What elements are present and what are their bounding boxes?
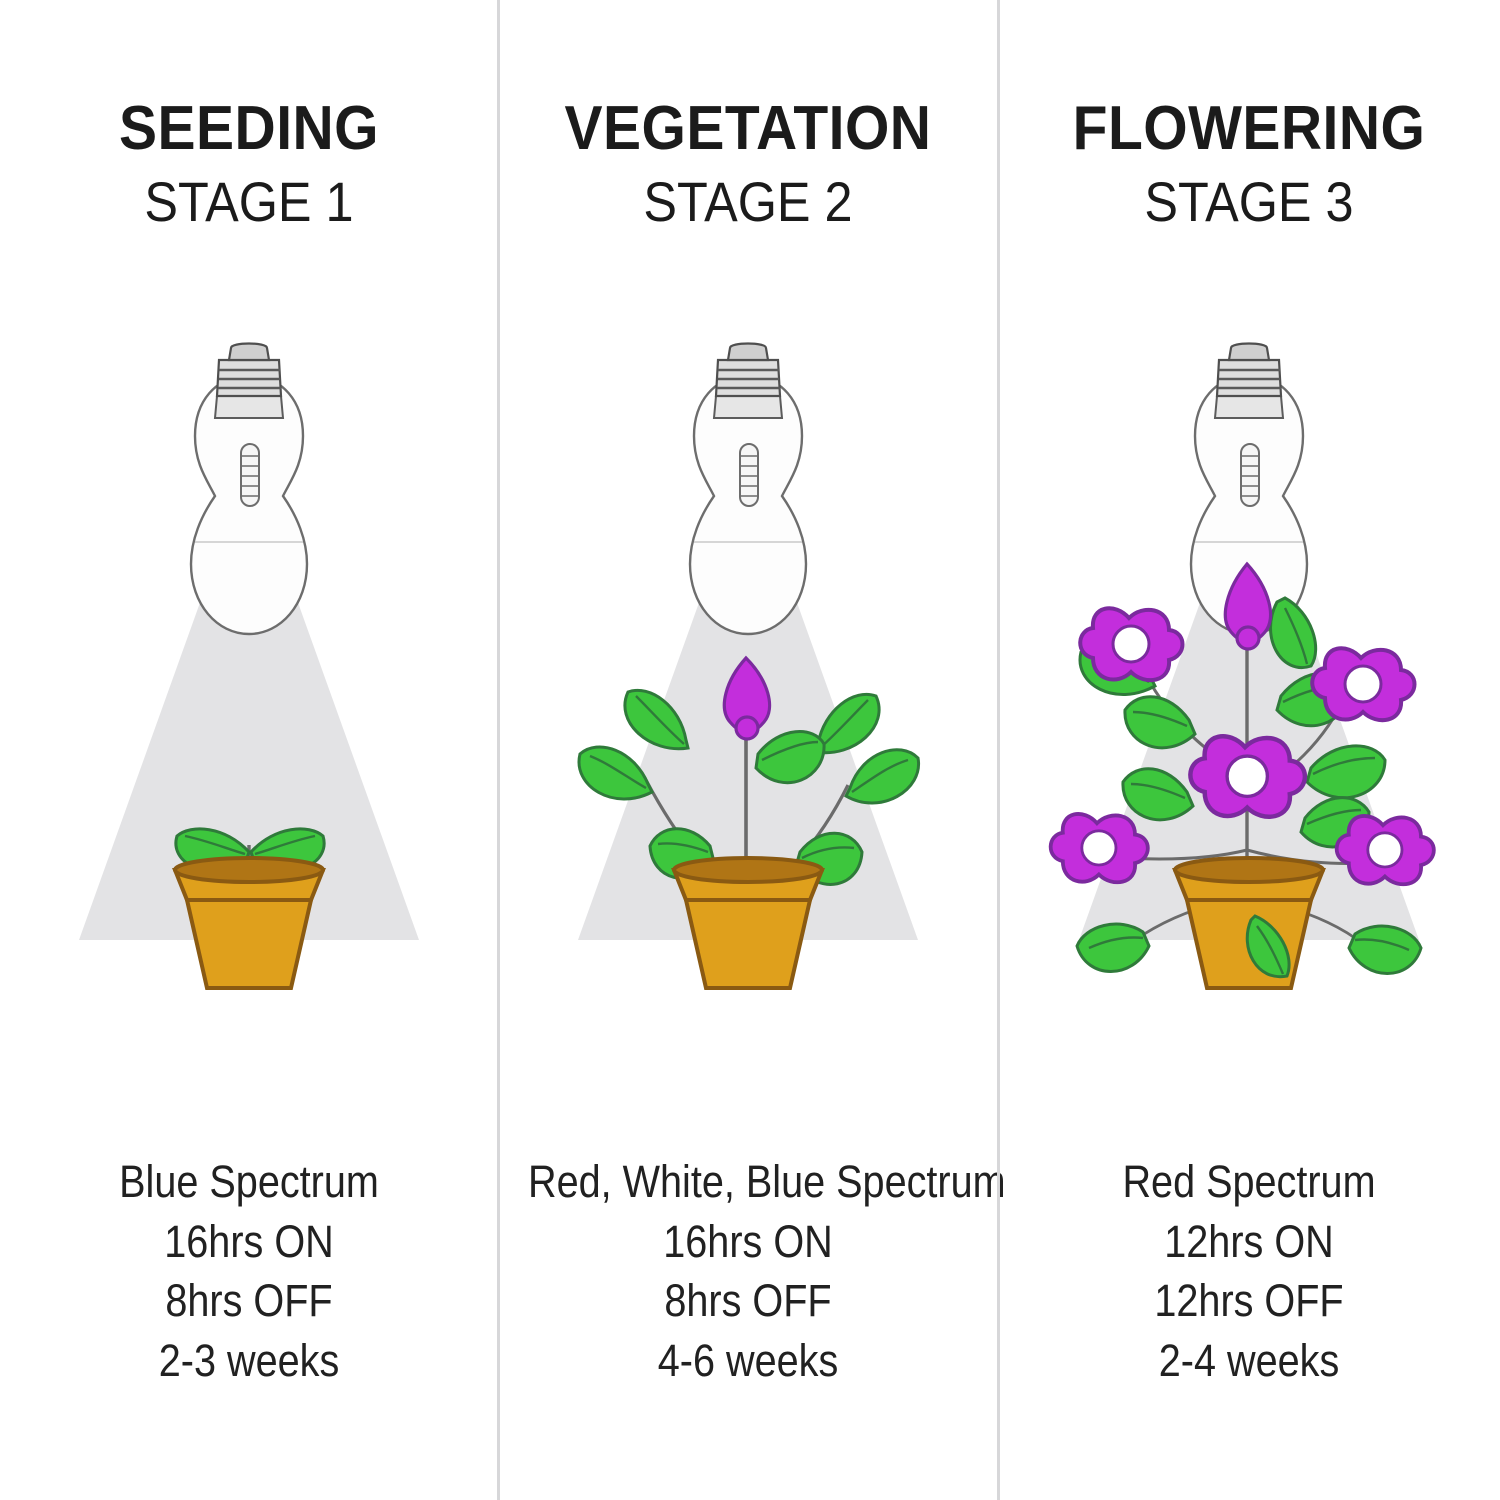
detail-duration: 2-3 weeks xyxy=(30,1331,468,1390)
leaf xyxy=(1349,926,1421,973)
bulb-filament-icon xyxy=(241,444,259,506)
stage-3-details: Red Spectrum 12hrs ON 12hrs OFF 2-4 week… xyxy=(998,1152,1500,1390)
stage-1-title: SEEDING xyxy=(20,96,478,161)
stage-1-details: Blue Spectrum 16hrs ON 8hrs OFF 2-3 week… xyxy=(0,1152,498,1390)
detail-spectrum: Red, White, Blue Spectrum xyxy=(528,1152,968,1211)
stage-column-flowering: FLOWERING STAGE 3 xyxy=(998,0,1500,1500)
bulb-filament-icon xyxy=(1241,444,1259,506)
flowering-scene-svg xyxy=(1019,340,1479,1000)
flower xyxy=(1080,608,1182,680)
stage-2-header: VEGETATION STAGE 2 xyxy=(498,96,998,237)
detail-spectrum: Blue Spectrum xyxy=(30,1152,468,1211)
bulb-screw-base xyxy=(217,344,281,397)
flower xyxy=(1051,814,1148,882)
flower xyxy=(1337,816,1434,884)
leaf xyxy=(579,747,652,799)
column-divider-1 xyxy=(497,0,500,1500)
leaf xyxy=(1077,924,1149,971)
detail-hours-on: 16hrs ON xyxy=(30,1212,468,1271)
flower-center xyxy=(1227,756,1267,796)
detail-spectrum: Red Spectrum xyxy=(1028,1152,1470,1211)
stage-column-vegetation: VEGETATION STAGE 2 xyxy=(498,0,998,1500)
stage-2-subtitle: STAGE 2 xyxy=(523,167,973,237)
seeding-scene-svg xyxy=(19,340,479,1000)
stage-2-illustration xyxy=(498,340,998,1020)
detail-hours-off: 8hrs OFF xyxy=(528,1271,968,1330)
detail-hours-on: 12hrs ON xyxy=(1028,1212,1470,1271)
bulb-screw-base xyxy=(1217,344,1281,397)
bulb-filament-icon xyxy=(740,444,758,506)
bulb-neck xyxy=(1215,396,1283,418)
detail-duration: 2-4 weeks xyxy=(1028,1331,1470,1390)
stage-1-illustration xyxy=(0,340,498,1020)
flower-pot xyxy=(175,858,323,988)
flower xyxy=(1312,648,1414,720)
detail-hours-off: 8hrs OFF xyxy=(30,1271,468,1330)
bulb-neck xyxy=(215,396,283,418)
detail-hours-off: 12hrs OFF xyxy=(1028,1271,1470,1330)
column-divider-2 xyxy=(997,0,1000,1500)
flower-pot xyxy=(674,858,822,988)
flower xyxy=(1190,736,1305,817)
detail-duration: 4-6 weeks xyxy=(528,1331,968,1390)
stage-3-subtitle: STAGE 3 xyxy=(1023,167,1475,237)
vegetation-scene-svg xyxy=(518,340,978,1000)
stage-3-illustration xyxy=(998,340,1500,1020)
stage-1-subtitle: STAGE 1 xyxy=(25,167,473,237)
leaf xyxy=(846,750,919,803)
stage-1-header: SEEDING STAGE 1 xyxy=(0,96,498,237)
detail-hours-on: 16hrs ON xyxy=(528,1212,968,1271)
stage-column-seeding: SEEDING STAGE 1 xyxy=(0,0,498,1500)
bulb-screw-base xyxy=(716,344,780,397)
flower-center xyxy=(1368,833,1402,867)
stage-3-title: FLOWERING xyxy=(1018,96,1480,161)
flower-center xyxy=(1113,626,1149,662)
grow-light-stages-infographic: SEEDING STAGE 1 xyxy=(0,0,1500,1500)
stage-2-title: VEGETATION xyxy=(518,96,978,161)
stage-3-header: FLOWERING STAGE 3 xyxy=(998,96,1500,237)
stage-2-details: Red, White, Blue Spectrum 16hrs ON 8hrs … xyxy=(498,1152,998,1390)
stage-columns: SEEDING STAGE 1 xyxy=(0,0,1500,1500)
bulb-neck xyxy=(714,396,782,418)
flower-center xyxy=(1345,666,1381,702)
flower-center xyxy=(1082,831,1116,865)
